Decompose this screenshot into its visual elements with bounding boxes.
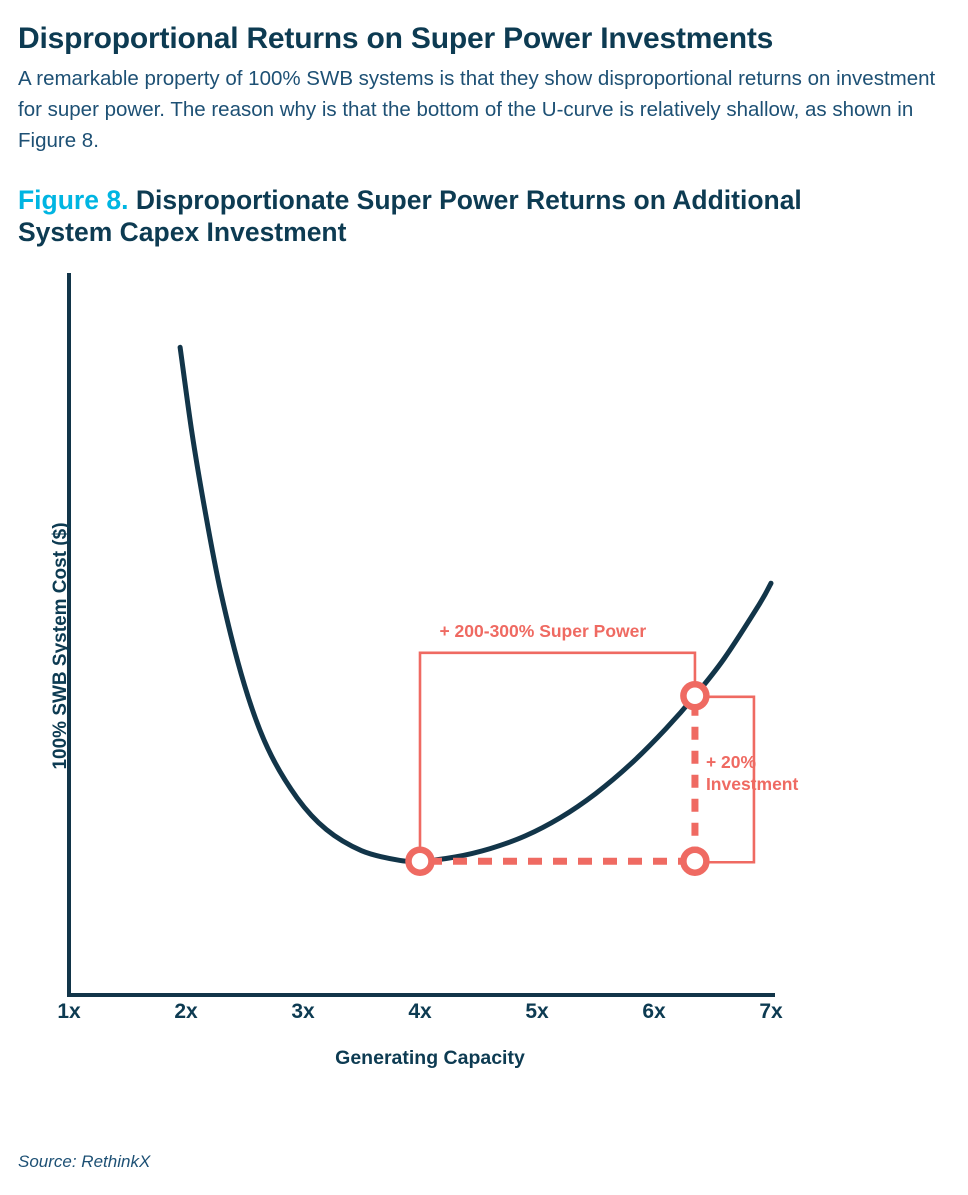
curve-min-marker[interactable] [409, 849, 432, 872]
baseline-right-marker[interactable] [683, 849, 706, 872]
u-curve [180, 347, 771, 861]
investment-annotation: + 20% Investment [706, 752, 836, 796]
figure-number-label: Figure 8. [18, 185, 128, 215]
investment-annotation-line1: + 20% [706, 752, 756, 772]
y-axis-label: 100% SWB System Cost ($) [50, 481, 72, 811]
super-power-annotation: + 200-300% Super Power [439, 621, 646, 642]
super-power-marker[interactable] [683, 684, 706, 707]
section-body-text: A remarkable property of 100% SWB system… [18, 63, 950, 156]
x-tick-2x: 2x [174, 1000, 197, 1024]
x-tick-4x: 4x [408, 1000, 431, 1024]
x-tick-6x: 6x [642, 1000, 665, 1024]
u-curve-chart [18, 265, 950, 1025]
x-tick-5x: 5x [525, 1000, 548, 1024]
x-tick-7x: 7x [759, 1000, 782, 1024]
page-title: Disproportional Returns on Super Power I… [18, 0, 950, 56]
investment-annotation-line2: Investment [706, 774, 798, 794]
source-note: Source: RethinkX [18, 1152, 150, 1172]
chart-container: + 200-300% Super Power + 20% Investment … [18, 265, 950, 1025]
figure-caption-text: Disproportionate Super Power Returns on … [18, 185, 802, 247]
x-tick-1x: 1x [57, 1000, 80, 1024]
figure-page: Disproportional Returns on Super Power I… [0, 0, 968, 1195]
figure-caption: Figure 8. Disproportionate Super Power R… [18, 184, 838, 249]
x-axis-tick-row: 1x 2x 3x 4x 5x 6x 7x [18, 1000, 950, 1030]
x-tick-3x: 3x [291, 1000, 314, 1024]
x-axis-label: Generating Capacity [70, 1047, 790, 1070]
